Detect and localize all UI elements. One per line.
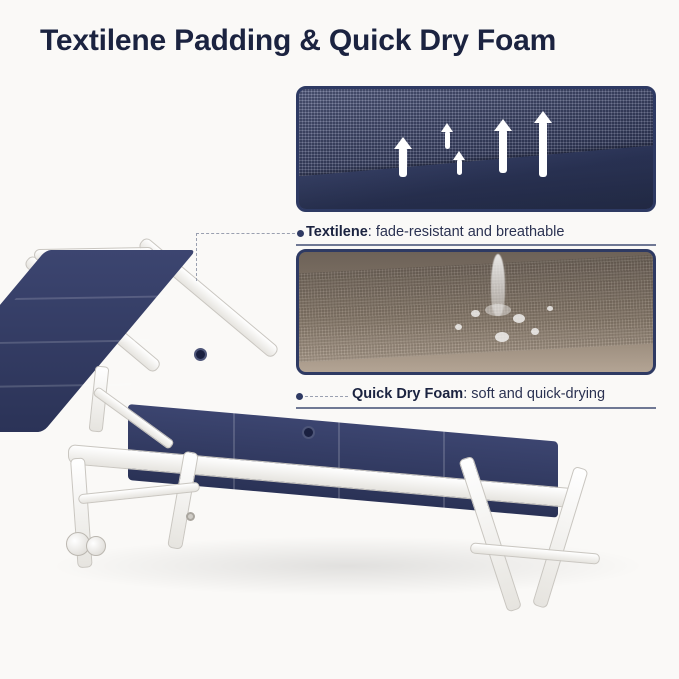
leader-line-foam-horizontal (300, 396, 348, 397)
caption-quick-dry-foam: Quick Dry Foam: soft and quick-drying (352, 386, 605, 402)
frame-bolt (186, 512, 195, 521)
leader-dot-textilene (297, 230, 304, 237)
textilene-lighting-overlay (299, 89, 653, 209)
leader-line-textilene-vertical (196, 233, 197, 281)
caption-textilene-lead: Textilene (306, 224, 368, 240)
quick-dry-foam-photo (296, 249, 656, 375)
water-droplet-3 (455, 324, 462, 330)
water-splash (485, 304, 511, 316)
caption-foam-underline (296, 407, 656, 409)
caption-foam-lead: Quick Dry Foam (352, 386, 463, 402)
backrest-grommet (194, 348, 207, 361)
leader-dot-foam (296, 393, 303, 400)
seat-seam-1 (233, 413, 235, 491)
water-droplet-4 (531, 328, 539, 335)
water-droplet-2 (513, 314, 525, 323)
caption-textilene-rest: : fade-resistant and breathable (368, 224, 565, 240)
seat-grommet (302, 426, 315, 439)
caption-textilene-underline (296, 244, 656, 246)
textilene-weave-photo (296, 86, 656, 212)
product-feature-poster: Textilene Padding & Quick Dry Foam (0, 0, 679, 679)
caption-foam-rest: : soft and quick-drying (463, 386, 605, 402)
wheel-rear (86, 536, 106, 556)
water-droplet-1 (471, 310, 480, 317)
seat-seam-3 (443, 431, 445, 509)
seat-seam-2 (338, 422, 340, 500)
caption-textilene: Textilene: fade-resistant and breathable (306, 224, 564, 240)
leader-line-textilene-horizontal (196, 233, 300, 234)
water-droplet-6 (547, 306, 553, 311)
water-droplet-5 (495, 332, 509, 342)
page-title: Textilene Padding & Quick Dry Foam (40, 24, 556, 58)
